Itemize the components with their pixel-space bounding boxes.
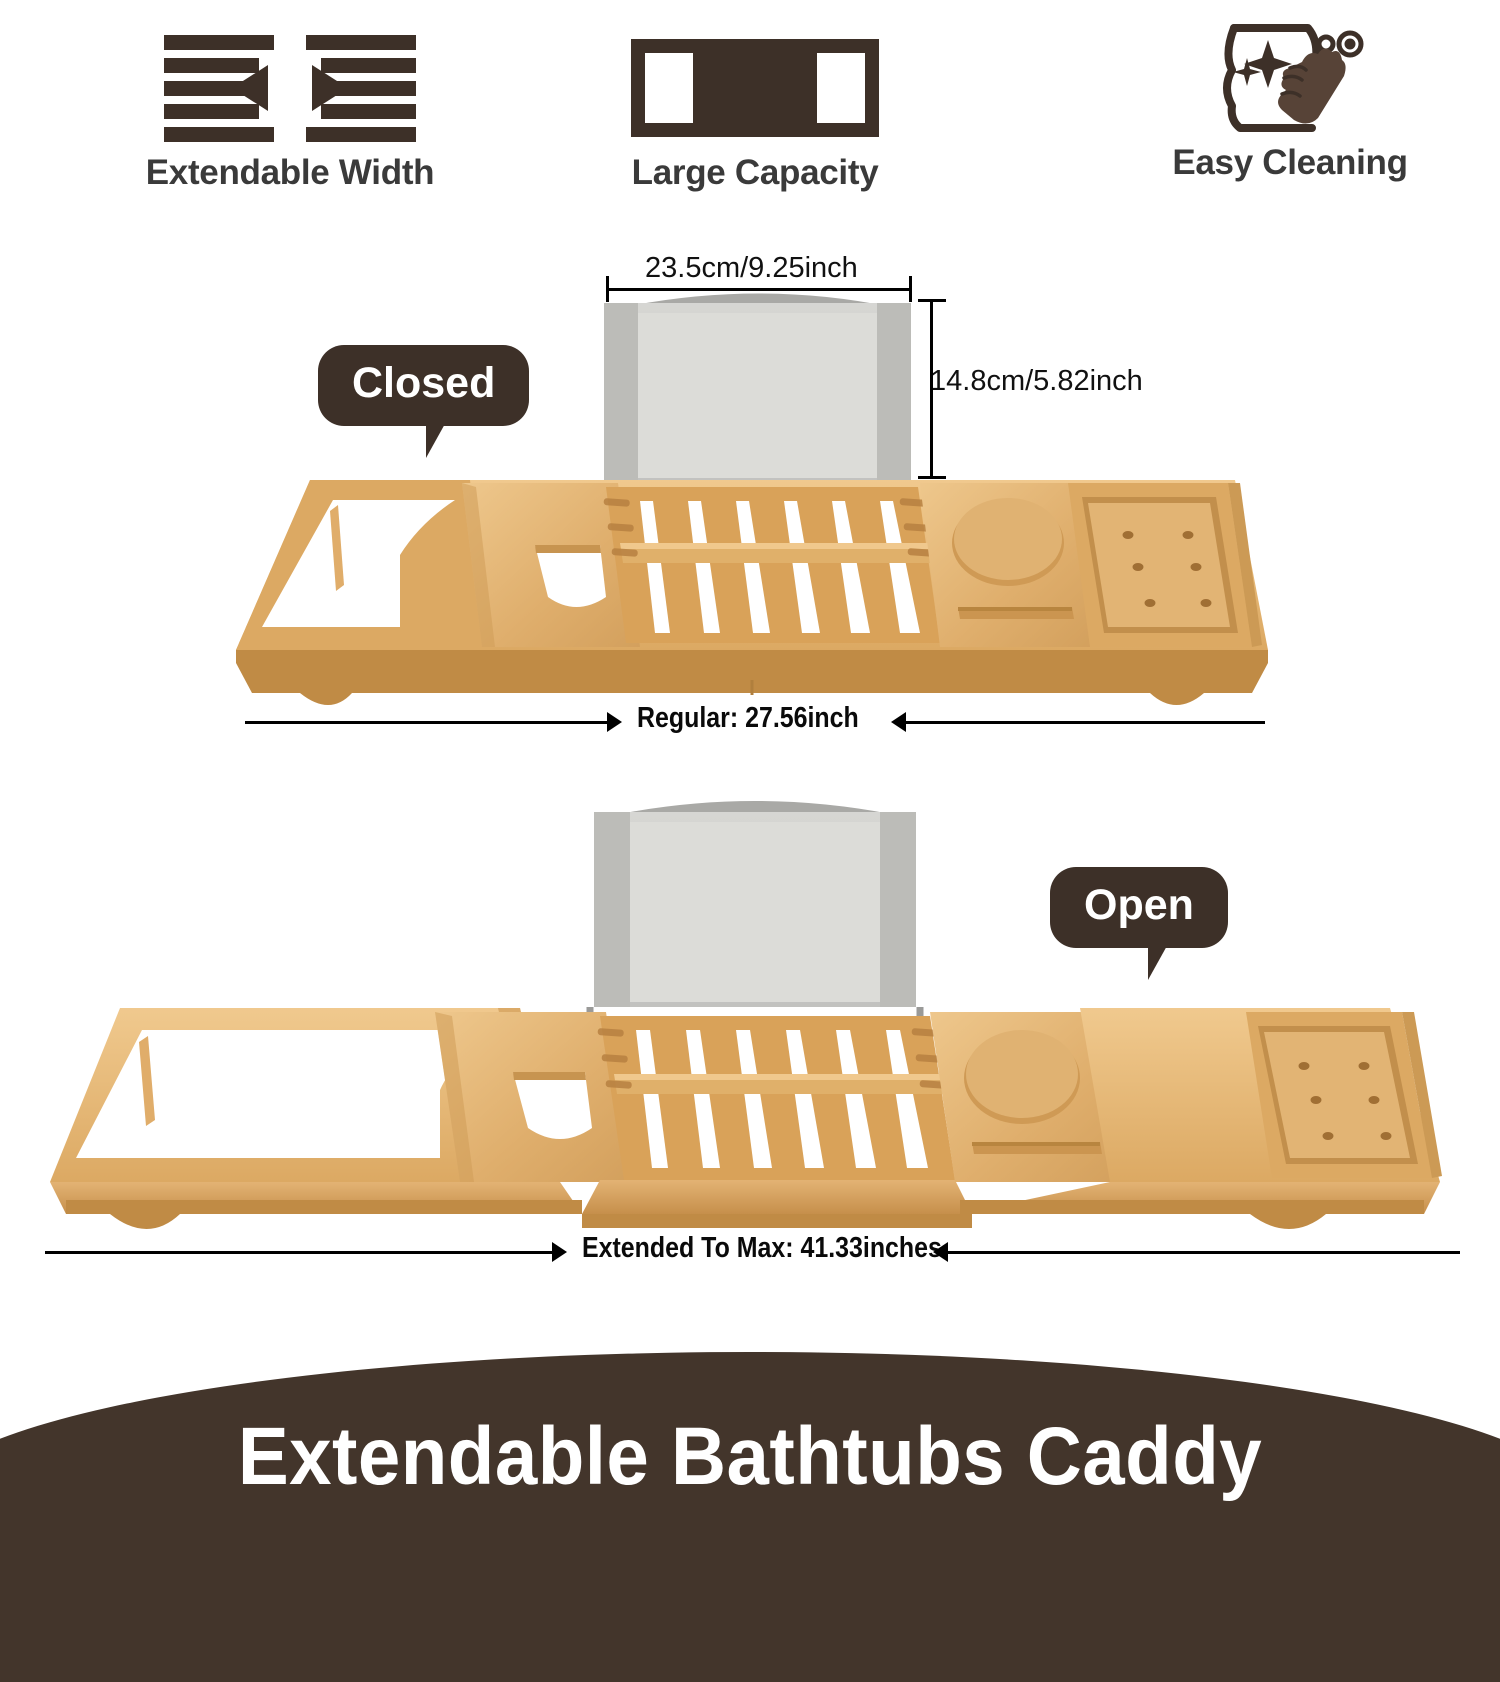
measure-bar-right (948, 1251, 1460, 1254)
feature-large-capacity: Large Capacity (545, 30, 965, 193)
measure-arrow-left (891, 712, 906, 732)
feature-label: Extendable Width (40, 153, 540, 193)
bottom-banner: Extendable Bathtubs Caddy (0, 1352, 1500, 1682)
measure-regular-label: Regular: 27.56inch (637, 702, 859, 735)
book-holder-open (590, 801, 920, 1026)
badge-tail (426, 422, 456, 458)
left-handle-frame-closed (236, 480, 490, 650)
soap-tray-closed (1068, 483, 1262, 647)
caddy-closed-view (0, 255, 1500, 715)
measure-bar-right (906, 721, 1265, 724)
feature-extendable-width: Extendable Width (40, 30, 540, 193)
feature-easy-cleaning: Easy Cleaning (1090, 20, 1490, 183)
measure-extended-label: Extended To Max: 41.33inches (582, 1232, 942, 1265)
book-holder-closed (600, 294, 915, 501)
badge-tail (1148, 944, 1178, 980)
capacity-tray-icon (545, 30, 965, 145)
feature-label: Large Capacity (545, 153, 965, 193)
badge-closed: Closed (318, 345, 529, 426)
measure-arrow-left (933, 1242, 948, 1262)
measure-regular: Regular: 27.56inch (245, 702, 1265, 742)
slat-section-open (582, 1016, 972, 1228)
measure-extended: Extended To Max: 41.33inches (45, 1232, 1460, 1272)
right-panel-closed (920, 483, 1094, 647)
extend-arrows-icon (40, 30, 540, 145)
caddy-open-view (0, 790, 1500, 1250)
feature-row: Extendable Width Large Capacity (0, 0, 1500, 215)
left-slide-panel-open (435, 1012, 630, 1182)
badge-open: Open (1050, 867, 1228, 948)
badge-open-label: Open (1084, 881, 1194, 929)
measure-bar-left (45, 1251, 555, 1254)
badge-closed-label: Closed (352, 359, 495, 407)
hand-sponge-tub-icon (1090, 20, 1490, 135)
slat-section-closed (604, 487, 940, 643)
banner-title: Extendable Bathtubs Caddy (0, 1410, 1500, 1504)
measure-bar-left (245, 721, 610, 724)
measure-arrow-right (552, 1242, 567, 1262)
measure-arrow-right (607, 712, 622, 732)
feature-label: Easy Cleaning (1090, 143, 1490, 183)
